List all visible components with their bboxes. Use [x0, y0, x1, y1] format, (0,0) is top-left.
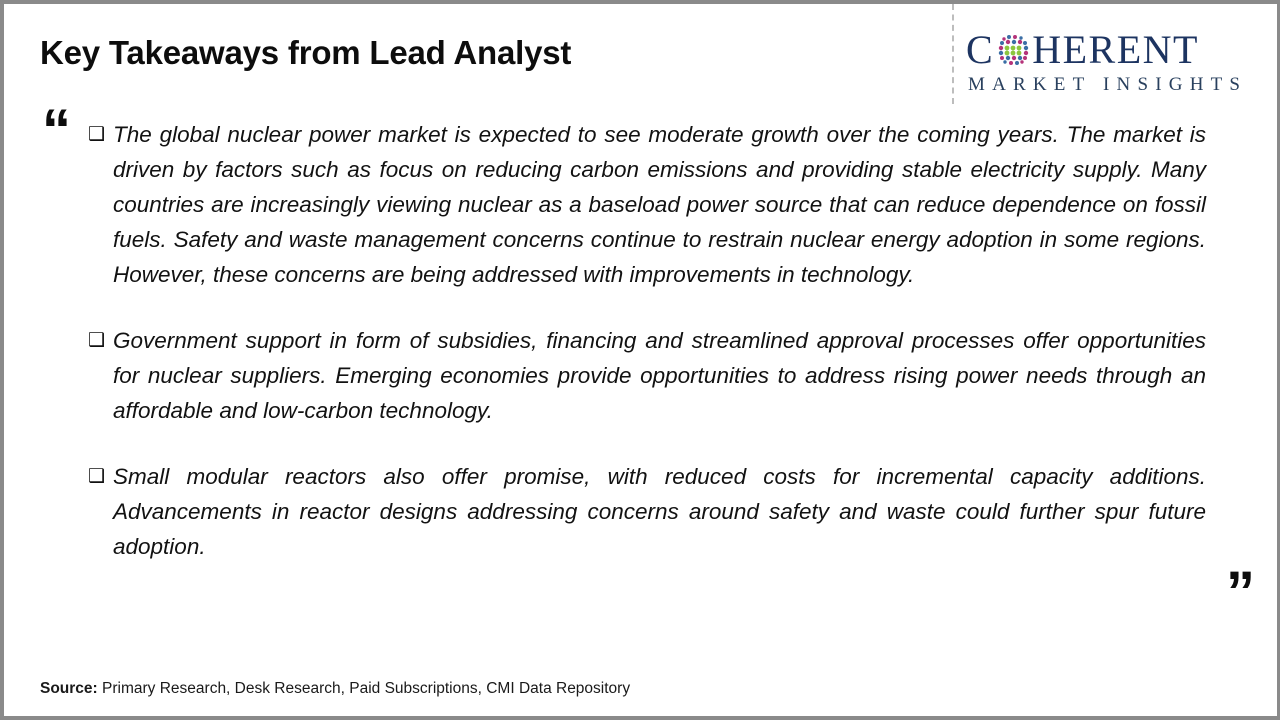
- list-item-text: The global nuclear power market is expec…: [113, 117, 1206, 292]
- slide-canvas: Key Takeaways from Lead Analyst C: [0, 0, 1280, 720]
- slide-header: Key Takeaways from Lead Analyst C: [4, 4, 1277, 104]
- page-title: Key Takeaways from Lead Analyst: [40, 34, 571, 72]
- bullet-square-icon: ❑: [88, 117, 113, 152]
- source-value: Primary Research, Desk Research, Paid Su…: [102, 680, 630, 697]
- header-dashed-divider: [952, 4, 954, 104]
- logo-rest: HERENT: [1032, 28, 1199, 72]
- source-note: Source: Primary Research, Desk Research,…: [40, 680, 630, 698]
- list-item: ❑ Government support in form of subsidie…: [88, 323, 1206, 428]
- globe-dots-icon: [995, 32, 1031, 68]
- open-quote-icon: “: [42, 102, 71, 160]
- source-label: Source:: [40, 680, 98, 697]
- logo-tagline: MARKET INSIGHTS: [968, 74, 1266, 96]
- bullet-square-icon: ❑: [88, 323, 113, 358]
- list-item: ❑ The global nuclear power market is exp…: [88, 117, 1206, 292]
- bullet-square-icon: ❑: [88, 459, 113, 494]
- list-item-text: Government support in form of subsidies,…: [113, 323, 1206, 428]
- logo-letter-c: C: [966, 28, 994, 72]
- takeaways-list: ❑ The global nuclear power market is exp…: [88, 117, 1206, 564]
- list-item-text: Small modular reactors also offer promis…: [113, 459, 1206, 564]
- list-item: ❑ Small modular reactors also offer prom…: [88, 459, 1206, 564]
- logo-wordmark: C: [966, 28, 1266, 72]
- company-logo: C: [966, 28, 1266, 96]
- close-quote-icon: ”: [1226, 564, 1255, 622]
